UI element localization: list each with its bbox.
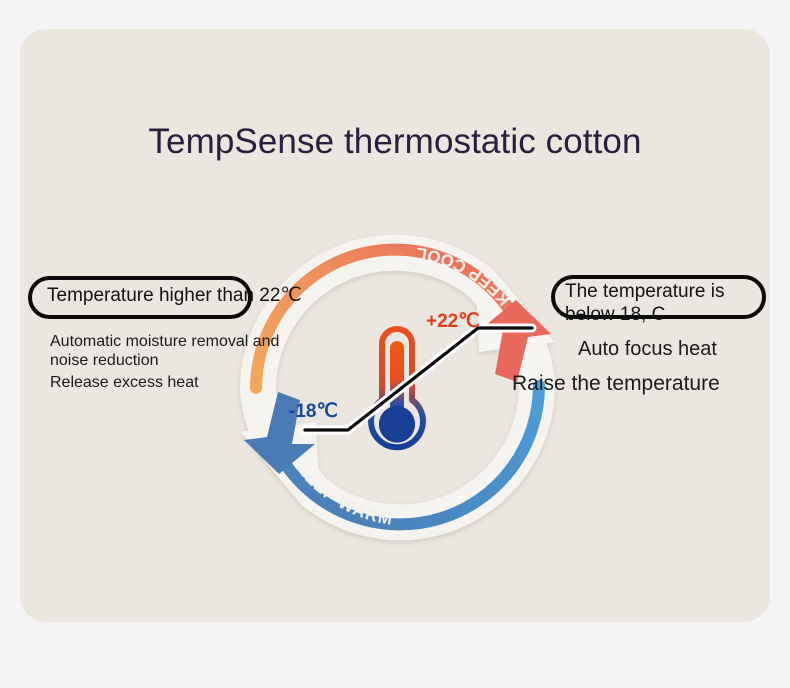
right-description-2: Raise the temperature xyxy=(512,372,720,396)
infographic-root: TempSense thermostatic cotton xyxy=(0,0,790,688)
left-description-1: Automatic moisture removal and noise red… xyxy=(50,332,300,370)
right-description-1: Auto focus heat xyxy=(578,338,717,361)
left-callout-label: Temperature higher than 22℃ xyxy=(47,284,302,307)
page-title: TempSense thermostatic cotton xyxy=(0,122,790,162)
temperature-cold-label: -18℃ xyxy=(289,400,338,423)
right-callout-label: The temperature is below 18, C xyxy=(565,280,765,326)
left-description-2: Release excess heat xyxy=(50,374,199,392)
temperature-hot-label: +22℃ xyxy=(426,310,480,333)
